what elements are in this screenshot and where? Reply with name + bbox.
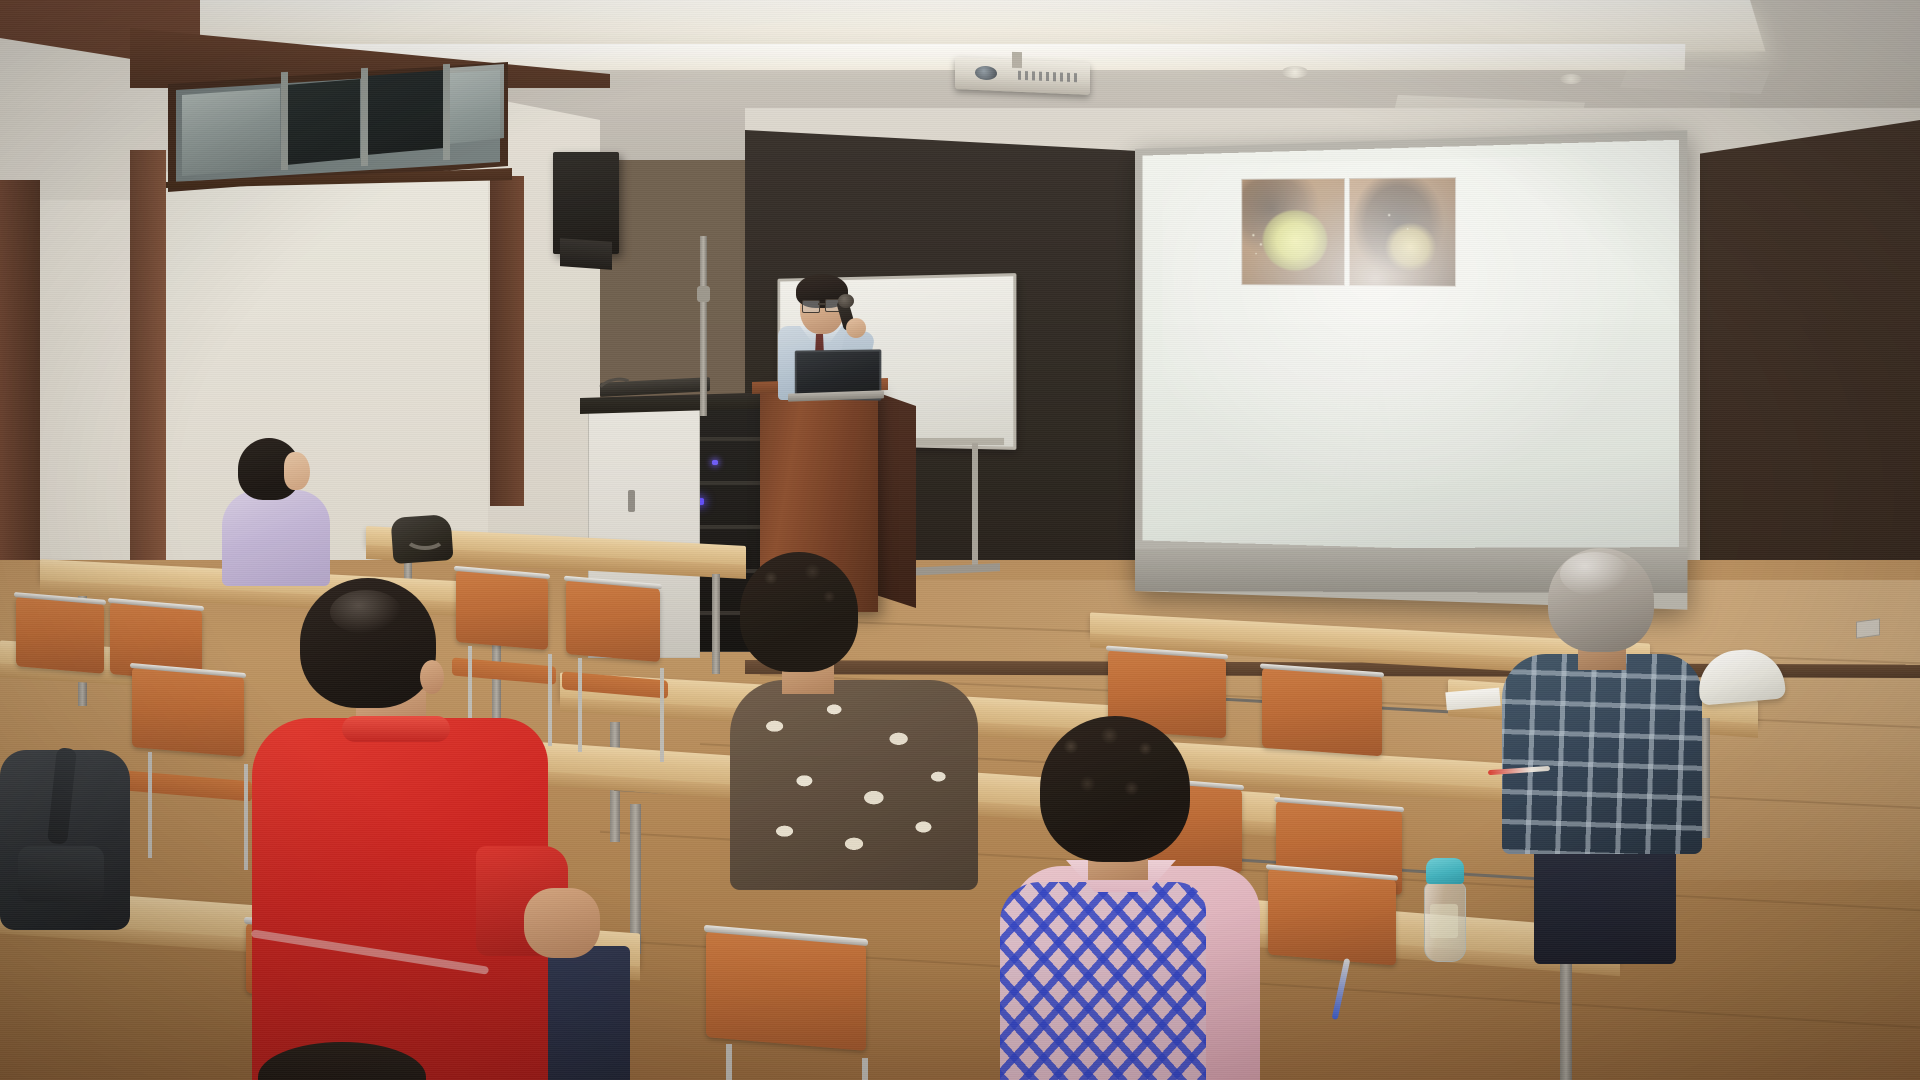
- chair-leg: [862, 1058, 868, 1080]
- projector-lens-icon: [975, 66, 997, 81]
- endoscopy-image-right: [1349, 177, 1456, 287]
- chair-leg: [660, 668, 664, 762]
- chair-leg: [548, 654, 552, 746]
- attendee-red-arm: [524, 888, 600, 958]
- desk-leg: [712, 574, 720, 674]
- attendee-lace-vest: [1000, 882, 1206, 1080]
- microphone-head-icon: [838, 294, 854, 308]
- wood-column: [490, 176, 524, 506]
- bag-handle: [404, 524, 446, 550]
- attendee-plaid-hair-highlight: [1560, 552, 1630, 596]
- ceiling-downlight-icon: [1282, 66, 1308, 78]
- chair-backrest[interactable]: [706, 931, 866, 1051]
- desk-leg: [630, 804, 641, 954]
- window-mullion: [443, 64, 450, 160]
- stand-pole: [700, 236, 707, 416]
- attendee-red-ear: [420, 660, 444, 694]
- chair-backrest[interactable]: [566, 580, 660, 662]
- endoscopy-image-left: [1241, 178, 1345, 286]
- endoscopy-highlight-spots: [1248, 228, 1274, 264]
- chair-backrest[interactable]: [132, 667, 244, 757]
- chair-leg: [726, 1044, 732, 1080]
- whiteboard-leg: [972, 443, 978, 571]
- lecture-room-photo: [0, 0, 1920, 1080]
- chair-leg: [148, 752, 152, 858]
- wood-column: [130, 150, 166, 580]
- window-pane: [286, 72, 360, 172]
- attendee-plaid-shirt: [1502, 654, 1702, 854]
- attendee-red-hair-highlight: [330, 590, 402, 634]
- chair-backrest[interactable]: [1268, 868, 1396, 965]
- attendee-plaid-legs: [1534, 838, 1676, 964]
- eyeglasses-icon: [802, 300, 820, 313]
- eyeglasses-bridge: [818, 303, 826, 305]
- chair-backrest[interactable]: [16, 596, 104, 674]
- left-wall-panel: [36, 200, 132, 620]
- projector-mount: [1012, 52, 1022, 68]
- chair-backrest[interactable]: [456, 570, 548, 650]
- chair-leg: [244, 764, 248, 870]
- endoscopy-highlight-spots: [1381, 204, 1423, 247]
- podium-side: [876, 392, 916, 608]
- bottle-label: [1430, 904, 1458, 938]
- window-mullion: [361, 68, 368, 166]
- rack-indicator-led: [712, 460, 718, 465]
- stand-knob: [697, 286, 710, 302]
- wall-outlet: [1856, 618, 1880, 638]
- attendee-lace-hair: [1046, 720, 1184, 830]
- bottle-cap[interactable]: [1426, 858, 1464, 884]
- chair-backrest[interactable]: [1262, 668, 1382, 757]
- chair-leg: [578, 658, 582, 752]
- attendee-floral-hair: [748, 556, 852, 634]
- desk-leg: [1560, 962, 1572, 1080]
- cabinet-handle[interactable]: [628, 490, 635, 512]
- presenter-hand: [846, 318, 866, 338]
- window-mullion: [281, 72, 288, 170]
- speaker-bracket: [560, 238, 612, 270]
- slide-endoscopy-images: [1241, 177, 1456, 287]
- attendee-lavender-torso: [222, 490, 330, 586]
- backpack-pocket: [18, 846, 104, 902]
- attendee-floral-torso: [730, 680, 978, 890]
- ceiling-downlight-icon: [1560, 74, 1582, 84]
- attendee-lavender-face: [284, 452, 310, 490]
- attendee-red-collar: [342, 716, 450, 742]
